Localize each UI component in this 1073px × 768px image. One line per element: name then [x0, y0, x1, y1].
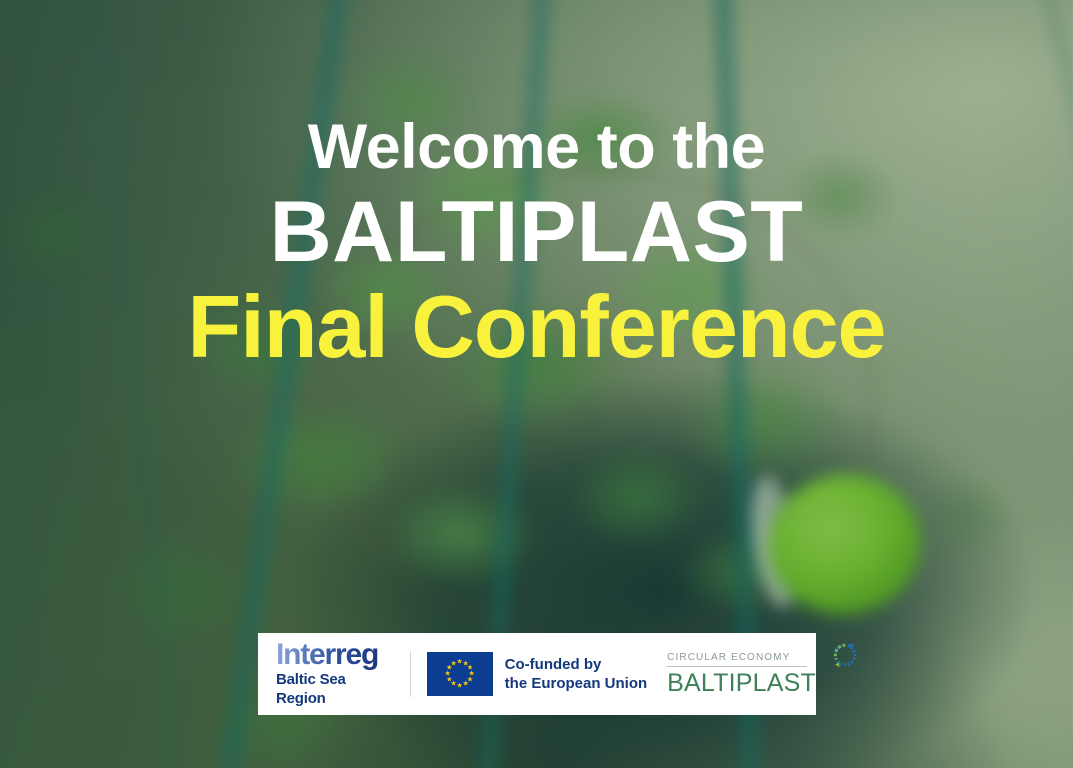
interreg-wordmark: Interreg [276, 640, 394, 670]
eu-flag-icon [427, 652, 493, 696]
circular-economy-arrows-icon [830, 640, 860, 670]
eu-funding-line-2: the European Union [505, 674, 648, 693]
logo-band: Interreg Baltic Sea Region Co-funded by … [258, 633, 816, 715]
slide-headline: Welcome to the BALTIPLAST Final Conferen… [0, 116, 1073, 371]
eu-emblem: Co-funded by the European Union [427, 652, 648, 696]
conference-welcome-slide: Welcome to the BALTIPLAST Final Conferen… [0, 0, 1073, 768]
baltiplast-logo: CIRCULAR ECONOMY BALTIPLAST [667, 652, 816, 696]
baltiplast-tagline: CIRCULAR ECONOMY [667, 652, 807, 667]
eu-funding-line-1: Co-funded by [505, 655, 648, 674]
eu-funding-statement: Co-funded by the European Union [505, 655, 648, 693]
logo-divider [410, 651, 411, 697]
headline-line-3: Final Conference [0, 283, 1073, 371]
baltiplast-wordmark: BALTIPLAST [667, 671, 816, 696]
interreg-programme-name: Baltic Sea Region [276, 671, 394, 709]
headline-line-1: Welcome to the [0, 116, 1073, 179]
headline-line-2: BALTIPLAST [0, 189, 1073, 275]
interreg-logo: Interreg Baltic Sea Region [276, 640, 394, 709]
